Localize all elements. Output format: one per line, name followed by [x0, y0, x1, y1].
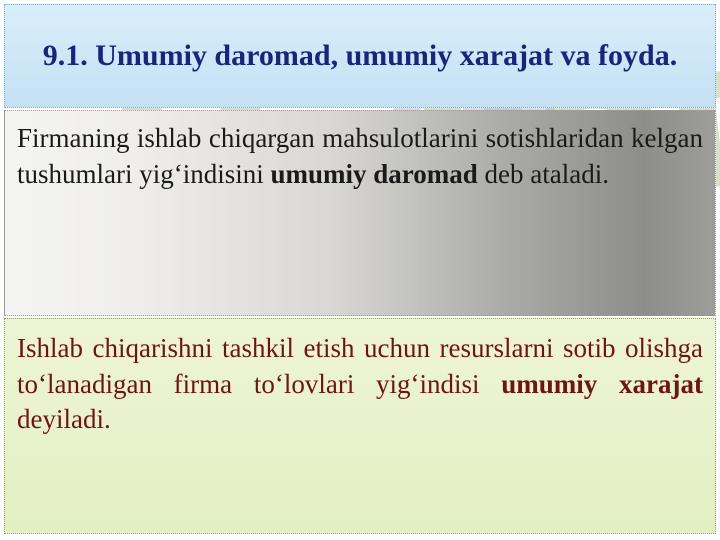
definition-block-gross-income: Firmaning ishlab chiqargan mahsulotlarin… [4, 110, 716, 316]
slide-title: 9.1. Umumiy daromad, umumiy xarajat va f… [29, 37, 691, 75]
slide: Hujjat 24 9.1. Umumiy daromad, umumiy xa… [0, 0, 720, 540]
definition-block-gross-cost: Ishlab chiqarishni tashkil etish uchun r… [4, 318, 716, 534]
text-run-2: deb ataladi. [478, 159, 609, 189]
paragraph-gross-cost: Ishlab chiqarishni tashkil etish uchun r… [17, 331, 703, 438]
slide-title-box: 9.1. Umumiy daromad, umumiy xarajat va f… [4, 4, 716, 108]
paragraph-gross-income: Firmaning ishlab chiqargan mahsulotlarin… [17, 121, 703, 192]
text-run-bold-umumiy-daromad: umumiy daromad [271, 159, 478, 189]
text-run-4: deyiladi. [17, 404, 111, 434]
text-run-bold-umumiy-xarajat: umumiy xarajat [501, 369, 703, 399]
